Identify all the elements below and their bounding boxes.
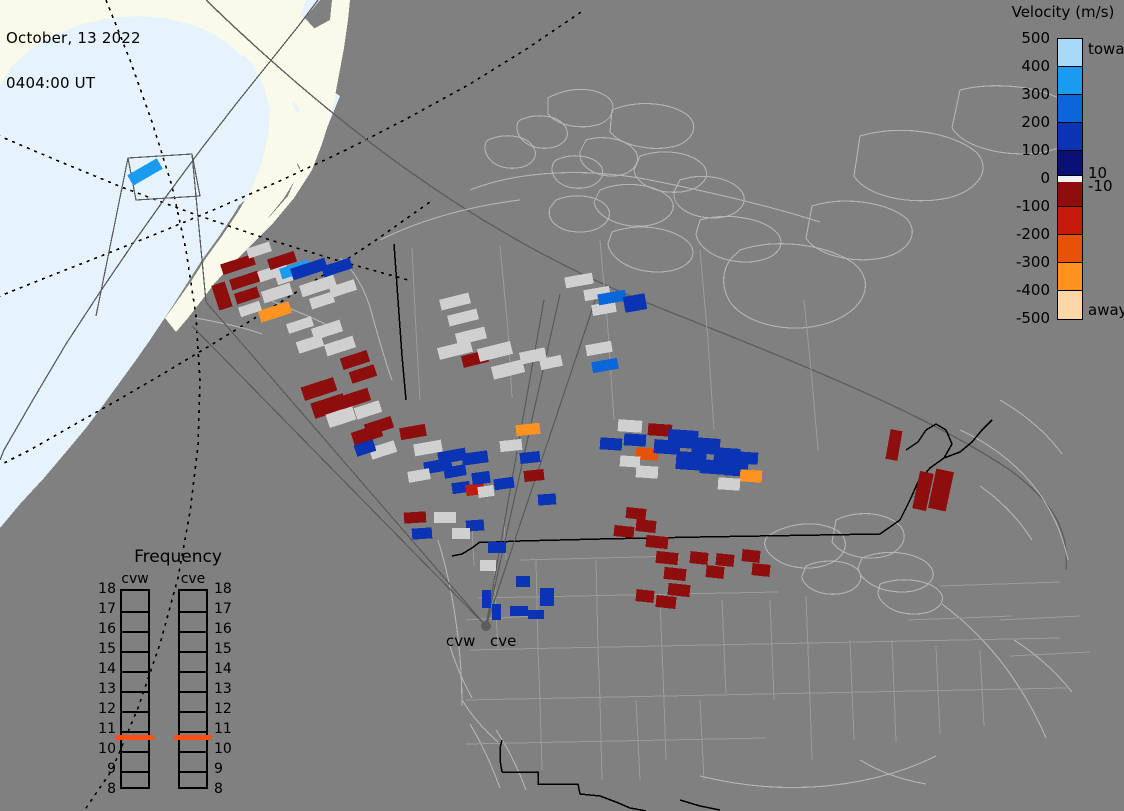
frequency-tick-label: 13 bbox=[214, 682, 232, 696]
velocity-cell[interactable]: 150 m/s bbox=[528, 610, 544, 619]
frequency-tick-label: 15 bbox=[214, 642, 232, 656]
frequency-gridline bbox=[122, 631, 148, 633]
colorbar-side-label-top: toward bbox=[1088, 42, 1124, 57]
velocity-cell[interactable]: -60 m/s bbox=[741, 549, 760, 563]
site-label-cve: cve bbox=[490, 634, 516, 649]
frequency-scale bbox=[178, 589, 208, 789]
frequency-gridline bbox=[122, 611, 148, 613]
frequency-marker bbox=[116, 735, 154, 740]
colorbar-segment bbox=[1058, 235, 1082, 263]
velocity-cell[interactable]: 150 m/s bbox=[540, 588, 554, 606]
colorbar-segment bbox=[1058, 263, 1082, 291]
frequency-gridline bbox=[180, 631, 206, 633]
frequency-tick-label: 11 bbox=[214, 722, 232, 736]
colorbar-side-label-bottom: away bbox=[1088, 303, 1124, 318]
frequency-tick-label: 18 bbox=[96, 582, 116, 596]
frequency-scale bbox=[120, 589, 150, 789]
frequency-gridline bbox=[180, 691, 206, 693]
colorbar-tick-label: 400 bbox=[1021, 59, 1050, 74]
colorbar-segment bbox=[1058, 151, 1082, 176]
frequency-tick-label: 10 bbox=[96, 742, 116, 756]
velocity-cell[interactable]: -60 m/s bbox=[667, 583, 690, 597]
velocity-cell[interactable]: -60 m/s bbox=[655, 595, 676, 609]
timestamp-time: 0404:00 UT bbox=[6, 76, 141, 91]
velocity-cell[interactable]: ground scatter bbox=[452, 528, 470, 539]
colorbar-segment bbox=[1058, 39, 1082, 67]
colorbar-segment bbox=[1058, 291, 1082, 319]
colorbar-tick-label: -500 bbox=[1016, 311, 1050, 326]
velocity-cell[interactable]: ground scatter bbox=[620, 455, 641, 467]
velocity-cell[interactable]: 150 m/s bbox=[624, 433, 647, 447]
colorbar-segment bbox=[1058, 123, 1082, 151]
radar-map-view: -60 m/s-60 m/s-60 m/s-60 m/sground scatt… bbox=[0, 0, 1124, 811]
frequency-column-label: cvw bbox=[120, 572, 150, 587]
colorbar-segment bbox=[1058, 207, 1082, 235]
velocity-cell[interactable]: -60 m/s bbox=[404, 511, 427, 524]
velocity-cell[interactable]: 150 m/s bbox=[488, 542, 506, 553]
velocity-cell[interactable]: -60 m/s bbox=[523, 469, 544, 482]
velocity-cell[interactable]: -60 m/s bbox=[645, 535, 668, 549]
velocity-cell[interactable]: ground scatter bbox=[499, 439, 522, 452]
velocity-cell[interactable]: 150 m/s bbox=[516, 576, 530, 587]
velocity-cell[interactable]: 150 m/s bbox=[538, 493, 557, 505]
frequency-tick-label: 17 bbox=[214, 602, 232, 616]
colorbar-tick-label: 100 bbox=[1021, 143, 1050, 158]
colorbar-segment bbox=[1058, 67, 1082, 95]
velocity-cell[interactable]: -60 m/s bbox=[715, 553, 734, 567]
velocity-cell[interactable]: 150 m/s bbox=[600, 437, 623, 451]
colorbar-tick-label: 200 bbox=[1021, 115, 1050, 130]
colorbar-tick-label: -300 bbox=[1016, 255, 1050, 270]
frequency-gridline bbox=[180, 671, 206, 673]
frequency-tick-label: 9 bbox=[214, 762, 223, 776]
radar-site-dot bbox=[481, 621, 491, 631]
velocity-cell[interactable]: 150 m/s bbox=[482, 590, 491, 608]
frequency-marker bbox=[174, 735, 212, 740]
velocity-cell[interactable]: -60 m/s bbox=[635, 519, 656, 533]
velocity-cell[interactable]: 150 m/s bbox=[736, 451, 759, 465]
velocity-cell[interactable]: 150 m/s bbox=[492, 604, 501, 620]
velocity-cell[interactable]: -60 m/s bbox=[663, 567, 686, 581]
velocity-colorbar-title: Velocity (m/s) bbox=[1002, 4, 1124, 20]
frequency-tick-label: 18 bbox=[214, 582, 232, 596]
colorbar-tick-label: 500 bbox=[1021, 31, 1050, 46]
frequency-column-cve: cve bbox=[178, 572, 208, 789]
frequency-tick-label: 12 bbox=[96, 702, 116, 716]
frequency-legend-title: Frequency bbox=[96, 548, 260, 566]
velocity-cell[interactable]: 150 m/s bbox=[519, 451, 540, 464]
frequency-gridline bbox=[122, 751, 148, 753]
timestamp-block: October, 13 2022 0404:00 UT bbox=[6, 1, 141, 121]
frequency-tick-label: 8 bbox=[214, 782, 223, 796]
frequency-tick-label: 14 bbox=[214, 662, 232, 676]
frequency-tick-label: 14 bbox=[96, 662, 116, 676]
velocity-cell[interactable]: -60 m/s bbox=[655, 551, 678, 565]
velocity-cell[interactable]: 150 m/s bbox=[412, 527, 433, 539]
velocity-cell[interactable]: -60 m/s bbox=[635, 589, 654, 603]
frequency-tick-label: 10 bbox=[214, 742, 232, 756]
velocity-cell[interactable]: 150 m/s bbox=[510, 606, 528, 616]
colorbar-tick-label: 300 bbox=[1021, 87, 1050, 102]
frequency-legend: Frequency cvw18171615141312111098cve1817… bbox=[96, 548, 260, 800]
velocity-cell[interactable]: ground scatter bbox=[480, 560, 496, 571]
frequency-tick-label: 16 bbox=[214, 622, 232, 636]
frequency-gridline bbox=[180, 771, 206, 773]
colorbar-segment bbox=[1058, 182, 1082, 207]
frequency-gridline bbox=[122, 711, 148, 713]
frequency-column-cvw: cvw bbox=[120, 572, 150, 789]
colorbar-side-label-lower-inner: -10 bbox=[1088, 179, 1113, 194]
frequency-gridline bbox=[122, 691, 148, 693]
frequency-tick-label: 8 bbox=[96, 782, 116, 796]
site-label-cvw: cvw bbox=[446, 634, 475, 649]
velocity-cell[interactable]: ground scatter bbox=[718, 477, 741, 491]
velocity-colorbar-strip bbox=[1057, 38, 1083, 320]
velocity-cell[interactable]: -60 m/s bbox=[689, 551, 708, 565]
colorbar-tick-label: -100 bbox=[1016, 199, 1050, 214]
timestamp-date: October, 13 2022 bbox=[6, 31, 141, 46]
frequency-gridline bbox=[180, 751, 206, 753]
frequency-tick-label: 15 bbox=[96, 642, 116, 656]
frequency-tick-label: 9 bbox=[96, 762, 116, 776]
frequency-gridline bbox=[122, 671, 148, 673]
velocity-cell[interactable]: -60 m/s bbox=[625, 507, 646, 520]
frequency-tick-label: 11 bbox=[96, 722, 116, 736]
velocity-cell[interactable]: -60 m/s bbox=[705, 565, 724, 579]
velocity-cell[interactable]: -60 m/s bbox=[613, 525, 634, 538]
frequency-tick-label: 16 bbox=[96, 622, 116, 636]
velocity-cell[interactable]: -60 m/s bbox=[751, 563, 770, 577]
frequency-gridline bbox=[180, 611, 206, 613]
frequency-gridline bbox=[122, 771, 148, 773]
frequency-tick-label: 13 bbox=[96, 682, 116, 696]
frequency-gridline bbox=[180, 651, 206, 653]
velocity-cell[interactable]: ground scatter bbox=[618, 419, 643, 433]
frequency-gridline bbox=[122, 731, 148, 733]
velocity-colorbar: Velocity (m/s) 5004003002001000-100-200-… bbox=[1000, 4, 1124, 334]
colorbar-segment bbox=[1058, 95, 1082, 123]
velocity-cell[interactable]: ground scatter bbox=[434, 512, 456, 523]
frequency-column-label: cve bbox=[178, 572, 208, 587]
colorbar-tick-label: 0 bbox=[1040, 171, 1050, 186]
velocity-cell[interactable]: -400 m/s bbox=[740, 469, 763, 483]
colorbar-tick-label: -200 bbox=[1016, 227, 1050, 242]
velocity-cell[interactable]: 150 m/s bbox=[471, 471, 490, 485]
frequency-gridline bbox=[180, 731, 206, 733]
frequency-gridline bbox=[122, 651, 148, 653]
frequency-gridline bbox=[180, 711, 206, 713]
colorbar-tick-label: -400 bbox=[1016, 283, 1050, 298]
frequency-tick-label: 12 bbox=[214, 702, 232, 716]
frequency-tick-label: 17 bbox=[96, 602, 116, 616]
velocity-cell[interactable]: ground scatter bbox=[477, 485, 494, 498]
